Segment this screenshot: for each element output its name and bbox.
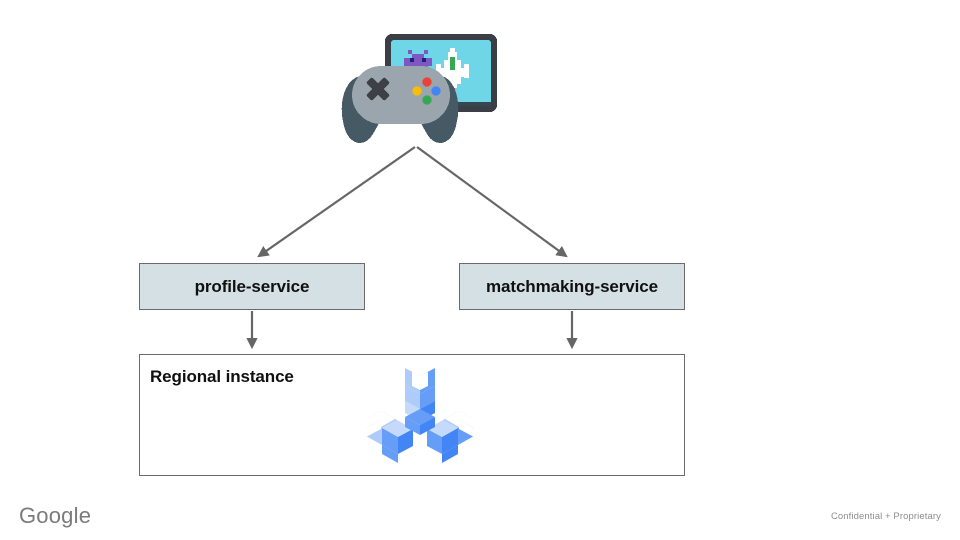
arrow-client-to-profile-service: [259, 147, 415, 256]
game-client-icon: [338, 30, 503, 145]
arrow-client-to-matchmaking-service: [417, 147, 566, 256]
service-label-matchmaking-service: matchmaking-service: [486, 277, 658, 297]
game-controller-icon: [342, 66, 459, 143]
google-logo: Google: [19, 505, 91, 527]
regional-instance-container[interactable]: Regional instance: [139, 354, 685, 476]
service-box-matchmaking-service[interactable]: matchmaking-service: [459, 263, 685, 310]
slide-canvas: profile-service matchmaking-service Regi…: [0, 0, 960, 540]
confidentiality-notice: Confidential + Proprietary: [831, 512, 941, 522]
gke-kubernetes-engine-icon: [362, 363, 478, 468]
service-label-profile-service: profile-service: [195, 277, 310, 297]
service-box-profile-service[interactable]: profile-service: [139, 263, 365, 310]
regional-instance-title: Regional instance: [150, 367, 294, 387]
